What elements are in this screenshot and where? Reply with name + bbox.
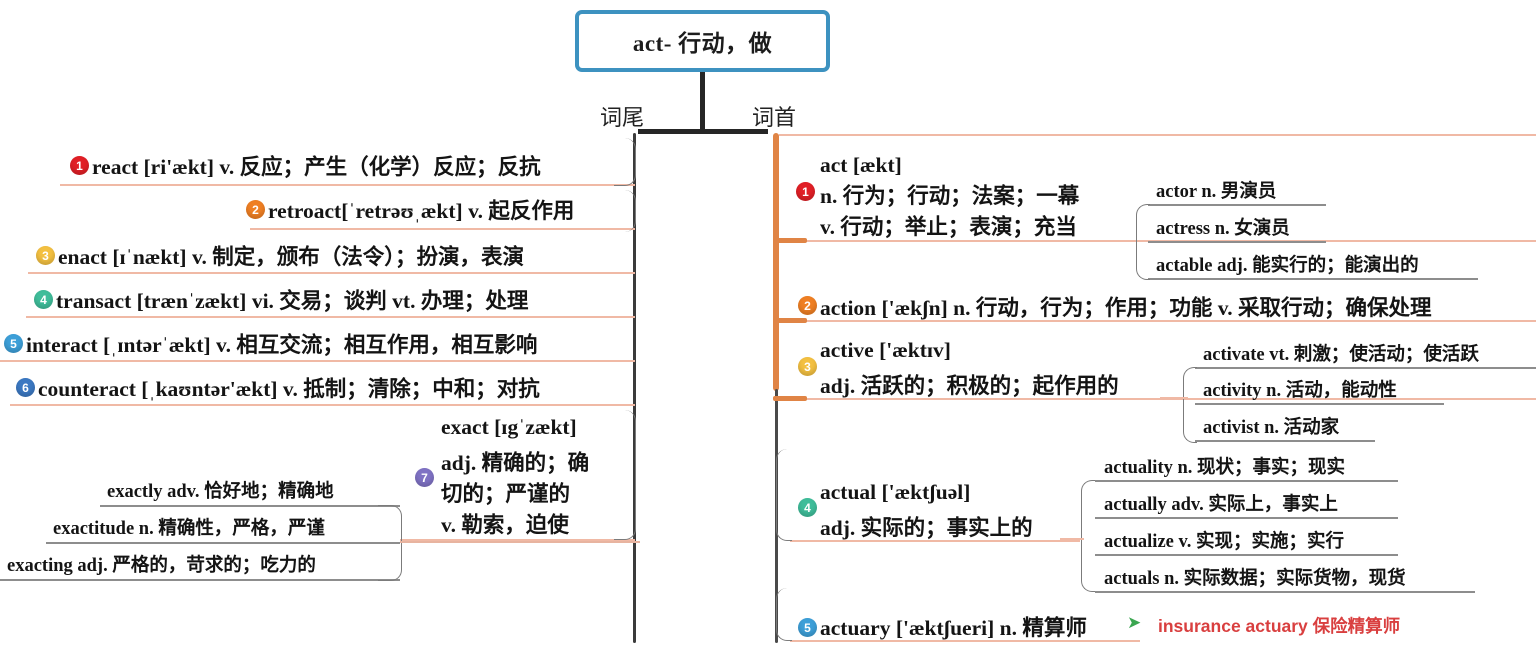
- left-item-1-underline: [60, 184, 635, 186]
- left-item-7-line-2[interactable]: adj. 精确的；确: [441, 446, 589, 477]
- left-item-4-underline: [26, 316, 635, 318]
- left-item-4-text[interactable]: transact [trænˈzækt] vi. 交易；谈判 vt. 办理；处理: [56, 284, 528, 315]
- left-item-7-line-1[interactable]: exact [ɪgˈzækt]: [441, 415, 577, 440]
- right-item-5-underline: [790, 640, 1140, 642]
- right-sub-3-2-text[interactable]: activity n. 活动，能动性: [1203, 376, 1397, 402]
- right-item-1-line-3[interactable]: v. 行动；举止；表演；充当: [820, 210, 1077, 241]
- right-item-5-line-1[interactable]: actuary ['æktʃueri] n. 精算师: [820, 611, 1087, 642]
- right-item-1-tick: [773, 238, 807, 243]
- left-bullet-4: 4: [34, 290, 53, 309]
- left-item-7-line-4[interactable]: v. 勒索，迫使: [441, 508, 569, 539]
- right-sub-3-3-text[interactable]: activist n. 活动家: [1203, 413, 1339, 439]
- right-item-3-tick: [773, 396, 807, 401]
- left-elbow-1: [614, 138, 636, 186]
- right-sub-4-2-underline: [1095, 517, 1398, 519]
- right-sub-4-4-underline: [1095, 591, 1475, 593]
- left-sub-3-text[interactable]: exacting adj. 严格的，苛求的；吃力的: [7, 551, 316, 577]
- right-sub-4-2-text[interactable]: actually adv. 实际上，事实上: [1104, 490, 1338, 516]
- right-sub-4-bracket: [1081, 480, 1095, 592]
- right-item-4-line-1[interactable]: actual ['æktʃuəl]: [820, 480, 970, 505]
- right-elbow-4: [776, 449, 792, 541]
- left-item-3-text[interactable]: enact [ɪˈnækt] v. 制定，颁布（法令）；扮演，表演: [58, 240, 524, 271]
- right-item-1-line-1[interactable]: act [ækt]: [820, 153, 902, 178]
- left-item-2-underline: [250, 228, 635, 230]
- right-sub-3-1-underline: [1195, 367, 1536, 369]
- right-item-2-tick: [773, 318, 807, 323]
- right-top-line: [779, 134, 1536, 136]
- right-sub-3-2-underline: [1195, 403, 1444, 405]
- right-sub-4-3-text[interactable]: actualize v. 实现；实施；实行: [1104, 527, 1344, 553]
- left-item-3-underline: [28, 272, 635, 274]
- right-item-4-underline: [790, 540, 1080, 542]
- right-item-1-line-2[interactable]: n. 行为；行动；法案；一幕: [820, 179, 1079, 210]
- right-item-2-underline: [779, 320, 1536, 322]
- root-node-label: act- 行动，做: [633, 24, 772, 58]
- right-sub-4-3-underline: [1095, 554, 1398, 556]
- left-item-2-text[interactable]: retroact[ˈretrəʊˌækt] v. 起反作用: [268, 194, 574, 225]
- right-sub-1-bracket: [1136, 204, 1150, 280]
- left-bullet-7: 7: [415, 468, 434, 487]
- right-bullet-2: 2: [798, 296, 817, 315]
- left-sub-2-text[interactable]: exactitude n. 精确性，严格，严谨: [53, 514, 325, 540]
- left-item-6-underline: [10, 404, 635, 406]
- right-sub-3-1-text[interactable]: activate vt. 刺激；使活动；使活跃: [1203, 340, 1479, 366]
- right-bullet-3: 3: [798, 357, 817, 376]
- right-sub-4-1-underline: [1095, 480, 1398, 482]
- right-sub-4-1-text[interactable]: actuality n. 现状；事实；现实: [1104, 453, 1345, 479]
- right-item-3-line-2[interactable]: adj. 活跃的；积极的；起作用的: [820, 369, 1119, 400]
- left-sub-connector: [400, 541, 640, 543]
- left-sub-1-underline: [100, 505, 400, 507]
- right-item-3-line-1[interactable]: active ['æktɪv]: [820, 338, 951, 363]
- right-sub-1-3-text[interactable]: actable adj. 能实行的；能演出的: [1156, 251, 1419, 277]
- left-sub-1-text[interactable]: exactly adv. 恰好地；精确地: [107, 477, 334, 503]
- right-branch-spine-upper: [773, 133, 779, 391]
- left-elbow-2: [614, 190, 636, 232]
- left-bullet-3: 3: [36, 246, 55, 265]
- right-sub-1-3-underline: [1148, 278, 1478, 280]
- right-bullet-1: 1: [796, 182, 815, 201]
- branch-label-prefix: 词首: [752, 100, 796, 132]
- mindmap-canvas: act- 行动，做 词尾 词首 1 react [ri'ækt] v. 反应；产…: [0, 0, 1536, 649]
- right-sub-3-3-underline: [1195, 440, 1375, 442]
- branch-label-suffix: 词尾: [600, 100, 644, 132]
- arrow-right-icon: ➤: [1127, 613, 1141, 633]
- right-sub-1-1-underline: [1148, 204, 1326, 206]
- right-bullet-4: 4: [798, 498, 817, 517]
- left-sub-2-underline: [46, 542, 400, 544]
- right-sub-1-2-underline: [1148, 241, 1326, 243]
- right-sub-3-connector: [1160, 397, 1188, 399]
- right-sub-3-bracket: [1183, 367, 1197, 443]
- left-bullet-2: 2: [246, 200, 265, 219]
- right-sub-4-4-text[interactable]: actuals n. 实际数据；实际货物，现货: [1104, 564, 1406, 590]
- left-item-6-text[interactable]: counteract [ˌkaʊntər'ækt] v. 抵制；清除；中和；对抗: [38, 372, 540, 403]
- left-bullet-6: 6: [16, 378, 35, 397]
- right-item-3-underline: [779, 398, 1536, 400]
- right-sub-4-connector: [1060, 538, 1084, 540]
- left-bullet-5: 5: [4, 334, 23, 353]
- right-item-5-note[interactable]: insurance actuary 保险精算师: [1158, 613, 1400, 638]
- trunk-horizontal: [638, 129, 768, 134]
- left-item-1-text[interactable]: react [ri'ækt] v. 反应；产生（化学）反应；反抗: [92, 150, 541, 181]
- left-item-5-text[interactable]: interact [ˌɪntərˈækt] v. 相互交流；相互作用，相互影响: [26, 328, 537, 359]
- right-elbow-5: [776, 588, 792, 641]
- left-sub-bracket: [378, 505, 402, 581]
- right-item-2-line-1[interactable]: action ['ækʃn] n. 行动，行为；作用；功能 v. 采取行动；确保…: [820, 291, 1432, 322]
- right-bullet-5: 5: [798, 618, 817, 637]
- left-bullet-1: 1: [70, 156, 89, 175]
- left-item-7-line-3[interactable]: 切的；严谨的: [441, 477, 570, 508]
- left-sub-3-underline: [0, 579, 400, 581]
- right-sub-1-1-text[interactable]: actor n. 男演员: [1156, 177, 1276, 203]
- left-elbow-7: [614, 410, 636, 540]
- right-item-4-line-2[interactable]: adj. 实际的；事实上的: [820, 511, 1033, 542]
- left-item-5-underline: [0, 360, 635, 362]
- right-sub-1-2-text[interactable]: actress n. 女演员: [1156, 214, 1290, 240]
- root-node: act- 行动，做: [575, 10, 830, 72]
- trunk-vertical: [700, 72, 705, 132]
